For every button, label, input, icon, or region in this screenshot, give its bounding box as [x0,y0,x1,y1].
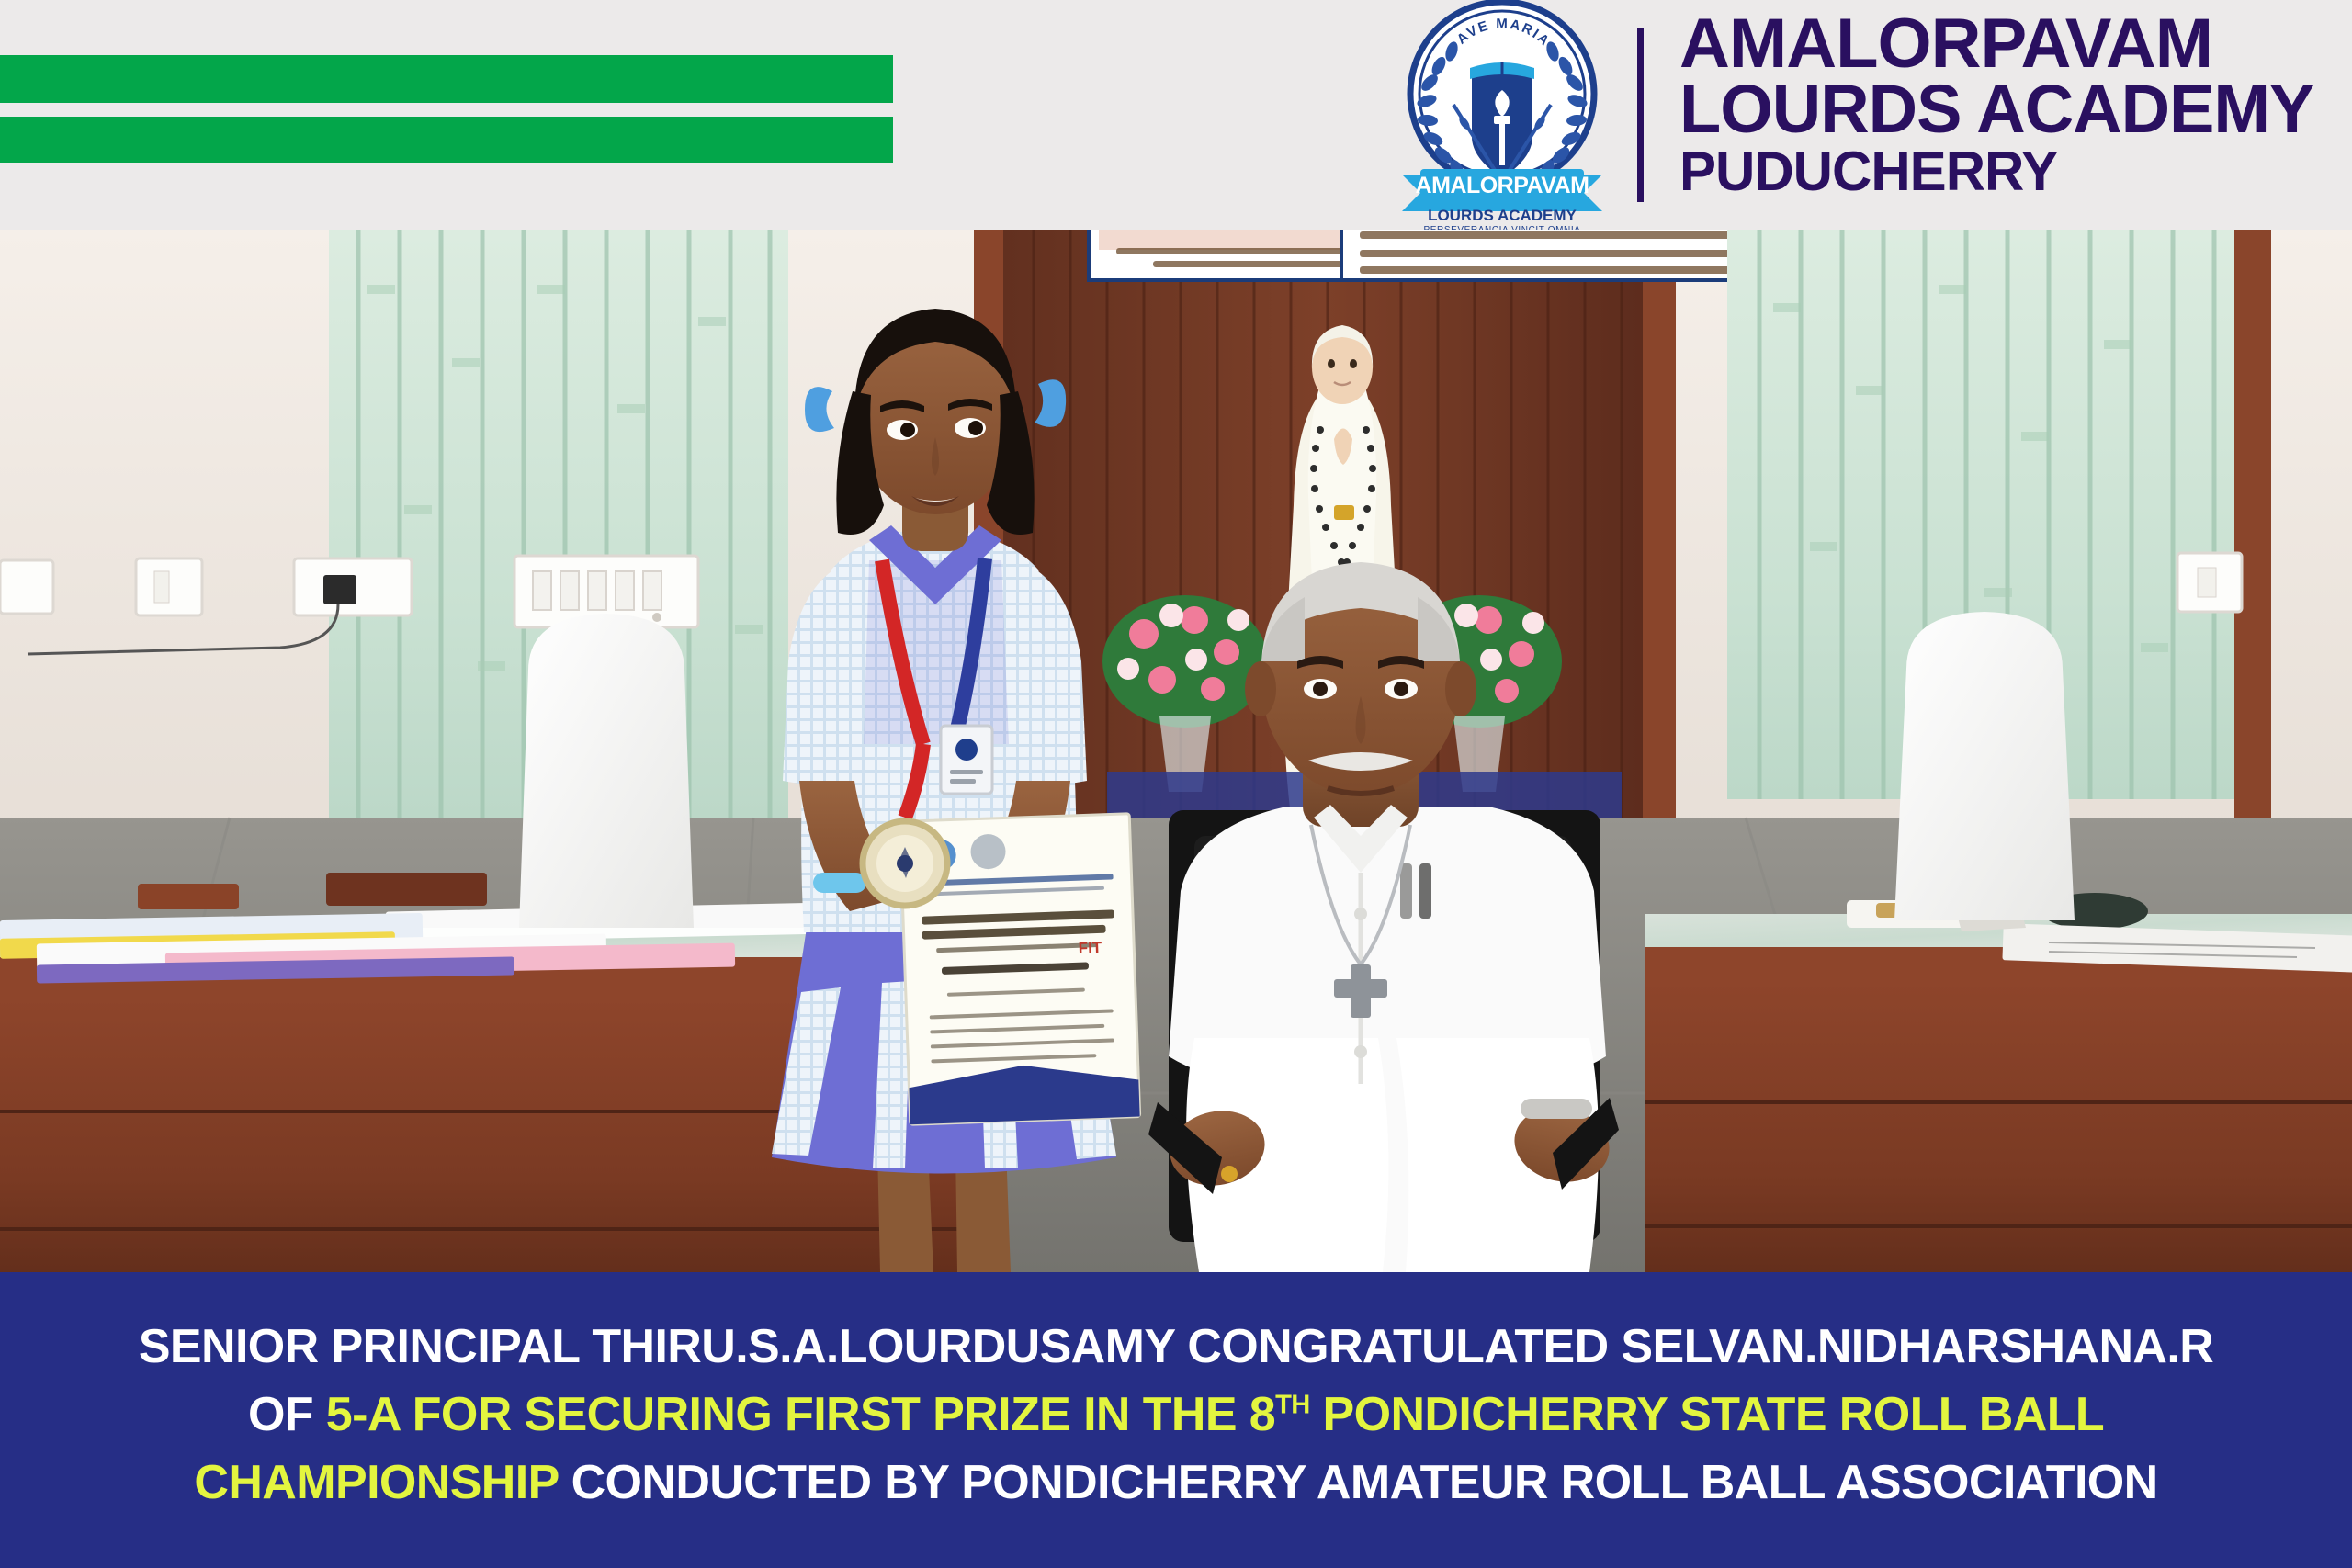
school-crest-logo: AVE MARIA AM [1396,0,1608,230]
caption-line3-text: CONDUCTED BY PONDICHERRY AMATEUR ROLL BA… [559,1456,2158,1509]
caption-line2-highlight-tail: PONDICHERRY STATE ROLL BALL [1310,1388,2104,1441]
chair-right-covered [1894,612,2075,920]
crest-sub-name: LOURDS ACADEMY [1428,207,1577,224]
school-name-line2: LOURDS ACADEMY [1679,77,2341,141]
caption-line3-highlight: CHAMPIONSHIP [194,1456,558,1509]
caption-line1-text: SENIOR PRINCIPAL THIRU.S.A.LOURDUSAMY CO… [139,1320,2213,1373]
header-bar: AVE MARIA AM [0,0,2352,230]
green-accent-bar-top [0,55,893,103]
desk-right [1645,893,2352,1272]
caption-line-2: OF 5-A FOR SECURING FIRST PRIZE IN THE 8… [28,1382,2324,1450]
svg-text:FIT: FIT [1078,939,1102,957]
caption-line2-highlight: 5-A FOR SECURING FIRST PRIZE IN THE 8 [326,1388,1275,1441]
green-accent-bar-bottom [0,117,893,163]
crest-ribbon-name: AMALORPAVAM [1416,173,1589,198]
caption-banner: SENIOR PRINCIPAL THIRU.S.A.LOURDUSAMY CO… [0,1272,2352,1568]
caption-line-3: CHAMPIONSHIP CONDUCTED BY PONDICHERRY AM… [28,1450,2324,1517]
caption-line2-prefix: OF [248,1388,326,1441]
poster: AVE MARIA AM [0,0,2352,1568]
caption-ordinal-suffix: TH [1275,1391,1310,1420]
event-photograph: FIT [0,230,2352,1272]
chair-left-covered [519,614,694,928]
school-city: PUDUCHERRY [1679,145,2341,197]
school-name-line1: AMALORPAVAM [1679,11,2341,77]
header-divider [1637,28,1644,202]
caption-line-1: SENIOR PRINCIPAL THIRU.S.A.LOURDUSAMY CO… [28,1314,2324,1382]
school-name-block: AMALORPAVAM LOURDS ACADEMY PUDUCHERRY [1679,11,2341,197]
